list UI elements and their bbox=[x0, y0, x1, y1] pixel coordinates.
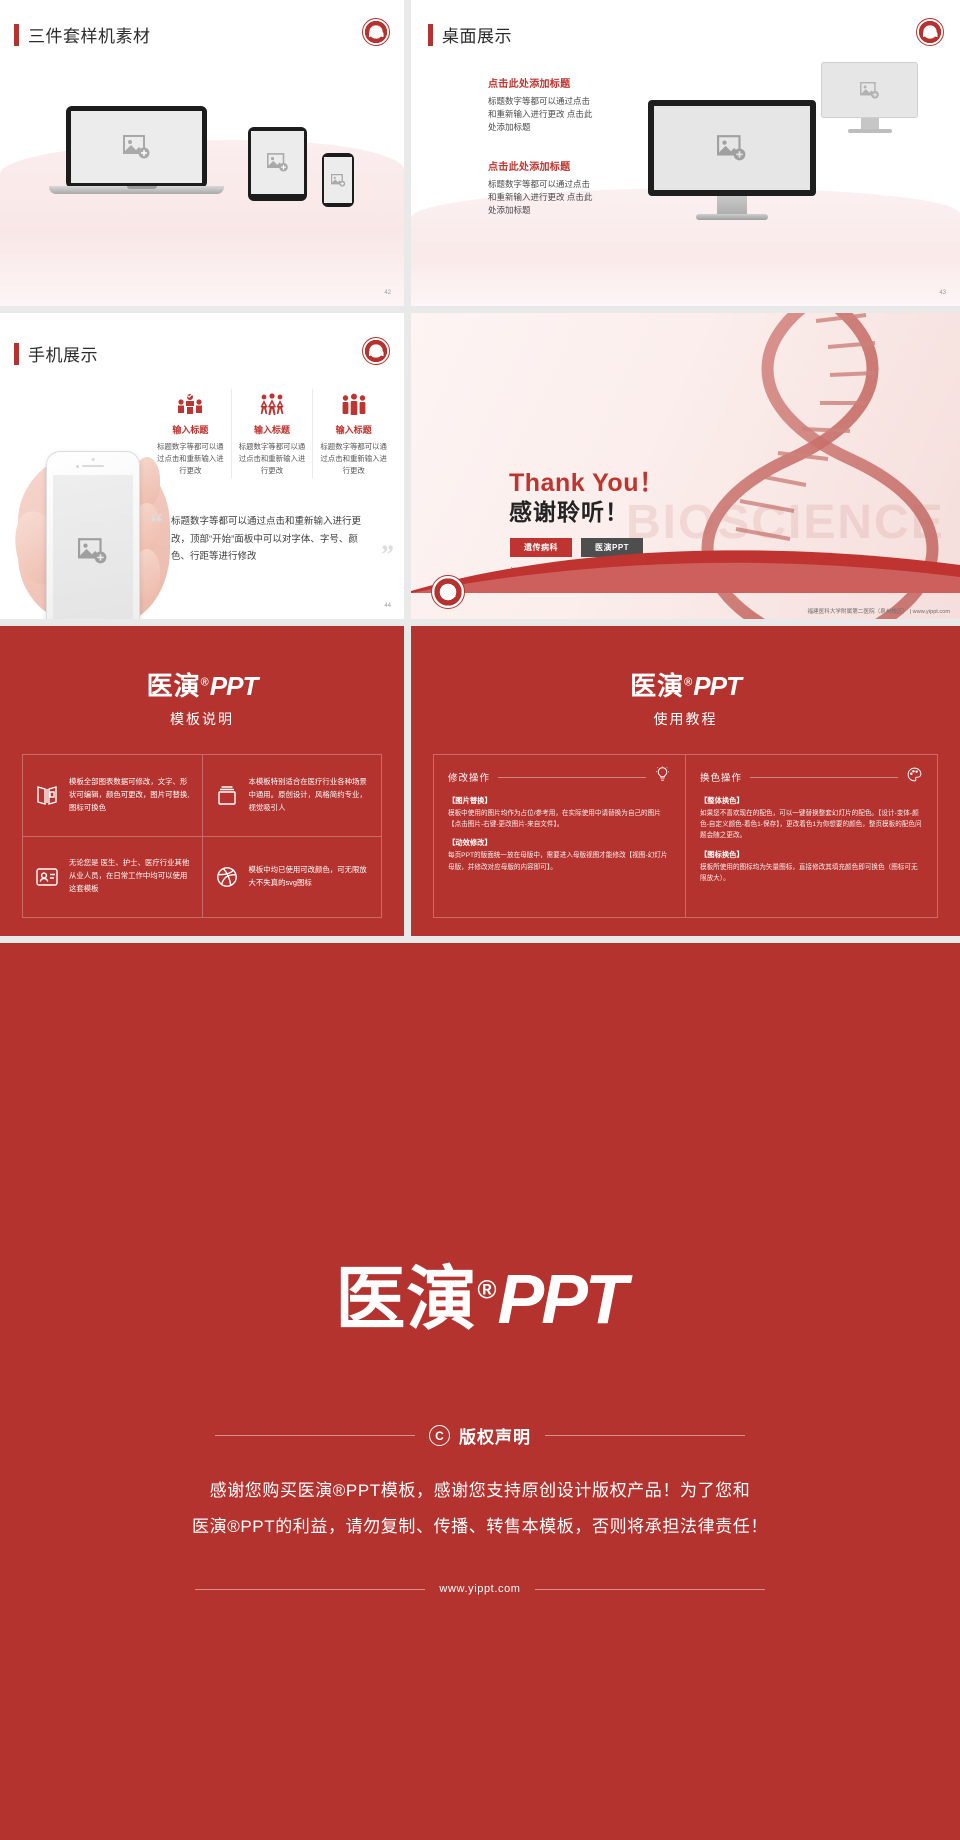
tutorial-block-title: 【图标换色】 bbox=[700, 850, 923, 860]
description-card[interactable]: 无论您是 医生、护士、医疗行业其他从业人员，在日常工作中均可以使用这套模板 bbox=[23, 836, 202, 918]
laptop-screen-content bbox=[71, 111, 202, 183]
feature-title: 输入标题 bbox=[318, 423, 389, 436]
copyright-body: 感谢您购买医演®PPT模板，感谢您支持原创设计版权产品！为了您和 医演®PPT的… bbox=[0, 1473, 960, 1544]
slide-copyright-statement[interactable]: 医演®PPT C 版权声明 感谢您购买医演®PPT模板，感谢您支持原创设计版权产… bbox=[0, 943, 960, 1840]
slide-desktop-display[interactable]: 桌面展示 点击此处添加标题 标题数字等都可以通过点击和重新输入进行更改 点击此处… bbox=[411, 0, 960, 306]
feature-item[interactable]: 输入标题 标题数字等都可以通过点击和重新输入进行更改 bbox=[312, 389, 394, 478]
laptop-screen bbox=[66, 106, 207, 188]
tutorial-heading: 修改操作 bbox=[448, 770, 490, 784]
brand-logo-reg: ® bbox=[477, 1275, 497, 1305]
slide1-title: 三件套样机素材 bbox=[28, 22, 151, 47]
description-card[interactable]: 本模板特别适合在医疗行业各种场景中通用。原创设计，风格简约专业，视觉吸引人 bbox=[203, 755, 382, 836]
tutorial-block-body: 每页PPT的版面统一放在母版中，需要进入母版视图才能修改【视图-幻灯片母版，并修… bbox=[448, 850, 671, 872]
slide2-heading-1: 点击此处添加标题 bbox=[488, 75, 593, 90]
tutorial-block: 【图标换色】 模板所使用的图标均为矢量图标，直接修改其填充颜色即可换色（图标可无… bbox=[700, 850, 923, 884]
heading-divider bbox=[750, 777, 898, 778]
dribbble-icon bbox=[214, 865, 240, 889]
phone-screen-content bbox=[324, 157, 352, 203]
feature-title: 输入标题 bbox=[155, 423, 226, 436]
description-card-text: 模板中均已使用可改颜色，可无限放大不失真的svg图标 bbox=[249, 864, 371, 890]
feature-title: 输入标题 bbox=[237, 423, 308, 436]
school-seal-icon bbox=[362, 18, 390, 46]
slide6-subtitle: 使用教程 bbox=[411, 709, 960, 729]
tutorial-heading-row: 换色操作 bbox=[700, 766, 923, 788]
brand-logo-cn: 医演 bbox=[335, 1260, 477, 1338]
title-tick-icon bbox=[14, 343, 19, 365]
slide4-footer: 福建医科大学附属第二医院（泉州校区） | www.yippt.com bbox=[807, 607, 950, 615]
tutorial-heading-row: 修改操作 bbox=[448, 766, 671, 788]
tutorial-heading: 换色操作 bbox=[700, 770, 742, 784]
add-image-placeholder-icon bbox=[717, 135, 747, 161]
copyright-body-line-2: 医演®PPT的利益，请勿复制、传播、转售本模板，否则将承担法律责任！ bbox=[0, 1509, 960, 1545]
description-card[interactable]: 模板中均已使用可改颜色，可无限放大不失真的svg图标 bbox=[203, 836, 382, 918]
monitor-foot bbox=[696, 214, 768, 220]
tutorial-block-title: 【图片替换】 bbox=[448, 796, 671, 806]
brand-logo-cn: 医演 bbox=[147, 671, 201, 701]
add-image-placeholder-icon bbox=[860, 82, 880, 99]
three-people-icon bbox=[318, 389, 389, 417]
description-card-text: 模板全部图表数据可修改，文字、形状可编辑，颜色可更改，图片可替换,图标可换色 bbox=[69, 776, 191, 815]
slide2-text-block-2: 点击此处添加标题 标题数字等都可以通过点击和重新输入进行更改 点击此处添加标题 bbox=[488, 158, 593, 218]
school-seal-icon bbox=[362, 337, 390, 365]
title-tick-icon bbox=[428, 24, 433, 46]
slide5-subtitle: 模板说明 bbox=[0, 709, 404, 729]
book-open-icon bbox=[34, 783, 60, 807]
desktop-monitor-small bbox=[821, 62, 918, 133]
brand-logo-ppt: PPT bbox=[210, 671, 258, 701]
brand-logo-cn: 医演 bbox=[630, 671, 684, 701]
slide3-title-row: 手机展示 bbox=[14, 341, 98, 366]
slide2-heading-2: 点击此处添加标题 bbox=[488, 158, 593, 173]
description-card-text: 本模板特别适合在医疗行业各种场景中通用。原创设计，风格简约专业，视觉吸引人 bbox=[249, 776, 371, 815]
copyright-body-line-1: 感谢您购买医演®PPT模板，感谢您支持原创设计版权产品！为了您和 bbox=[0, 1473, 960, 1509]
quote-close-icon: ” bbox=[381, 545, 394, 566]
add-image-placeholder-icon bbox=[331, 174, 346, 187]
tutorial-block: 【图片替换】 模板中使用的图片均作为占位/参考用，在实际使用中请替换为自己的图片… bbox=[448, 796, 671, 830]
monitor-screen-content bbox=[654, 106, 810, 190]
slide-three-device-mockup[interactable]: 三件套样机素材 bbox=[0, 0, 404, 306]
monitor-neck bbox=[717, 196, 747, 214]
slide3-title: 手机展示 bbox=[28, 341, 98, 366]
laptop-notch bbox=[127, 186, 157, 189]
feature-body: 标题数字等都可以通过点击和重新输入进行更改 bbox=[318, 441, 389, 478]
brand-logo-reg: ® bbox=[684, 676, 693, 688]
slide2-title: 桌面展示 bbox=[442, 22, 512, 47]
lightbulb-icon bbox=[654, 766, 671, 788]
slide-usage-tutorial[interactable]: 医演®PPT 使用教程 修改操作 【图片替换】 bbox=[411, 626, 960, 936]
add-image-placeholder-icon bbox=[267, 153, 289, 172]
feature-item[interactable]: 输入标题 标题数字等都可以通过点击和重新输入进行更改 bbox=[150, 389, 231, 478]
slide2-page-number: 43 bbox=[939, 290, 946, 296]
quote-open-icon: “ bbox=[150, 513, 163, 566]
divider-line-right bbox=[535, 1589, 765, 1590]
monitor-small-screen bbox=[821, 62, 918, 118]
phone-camera-icon bbox=[76, 465, 79, 468]
school-seal-icon bbox=[431, 575, 465, 609]
copyright-footer-row: www.yippt.com bbox=[0, 1583, 960, 1595]
brand-logo-ppt: PPT bbox=[498, 1260, 625, 1338]
brand-logo-ppt: PPT bbox=[693, 671, 741, 701]
slide2-body-1: 标题数字等都可以通过点击和重新输入进行更改 点击此处添加标题 bbox=[488, 95, 593, 135]
team-check-icon bbox=[155, 389, 226, 417]
hand-illustration bbox=[10, 391, 170, 619]
slide3-page-number: 44 bbox=[384, 603, 391, 609]
description-card-grid: 模板全部图表数据可修改，文字、形状可编辑，颜色可更改，图片可替换,图标可换色 无… bbox=[22, 754, 382, 918]
feature-columns: 输入标题 标题数字等都可以通过点击和重新输入进行更改 输入标题 标题数字等都可以… bbox=[150, 389, 394, 478]
divider-line-left bbox=[215, 1435, 415, 1436]
add-image-placeholder-icon bbox=[123, 135, 151, 159]
thank-you-title-cn: 感谢聆听！ bbox=[509, 493, 629, 527]
tutorial-block-title: 【动效修改】 bbox=[448, 838, 671, 848]
slide-deck-grid: 三件套样机素材 bbox=[0, 0, 960, 1840]
copyright-icon: C bbox=[429, 1425, 450, 1446]
user-id-icon bbox=[34, 865, 60, 889]
phone-sensor-dot bbox=[92, 458, 95, 461]
tablet-mockup bbox=[248, 127, 307, 201]
description-card[interactable]: 模板全部图表数据可修改，文字、形状可编辑，颜色可更改，图片可替换,图标可换色 bbox=[23, 755, 202, 836]
brand-logo: 医演®PPT bbox=[411, 666, 960, 703]
tutorial-block-body: 如果您不喜欢现在的配色，可以一键替换整套幻灯片的配色。【设计-变体-颜色-自定义… bbox=[700, 808, 923, 842]
description-column-left: 模板全部图表数据可修改，文字、形状可编辑，颜色可更改，图片可替换,图标可换色 无… bbox=[23, 755, 202, 917]
slide-phone-display[interactable]: 手机展示 bbox=[0, 313, 404, 619]
feature-body: 标题数字等都可以通过点击和重新输入进行更改 bbox=[155, 441, 226, 478]
palette-icon bbox=[906, 766, 923, 788]
people-group-icon bbox=[237, 389, 308, 417]
slide2-text-block-1: 点击此处添加标题 标题数字等都可以通过点击和重新输入进行更改 点击此处添加标题 bbox=[488, 75, 593, 135]
red-swoosh-decoration bbox=[411, 533, 960, 593]
add-image-placeholder-icon bbox=[78, 538, 108, 564]
description-column-right: 本模板特别适合在医疗行业各种场景中通用。原创设计，风格简约专业，视觉吸引人 模板… bbox=[202, 755, 382, 917]
slide-template-description[interactable]: 医演®PPT 模板说明 模板全部图表数据可修改，文字、形状可编辑，颜色可更改，图… bbox=[0, 626, 404, 936]
copyright-badge: C 版权声明 bbox=[429, 1423, 531, 1448]
feature-body: 标题数字等都可以通过点击和重新输入进行更改 bbox=[237, 441, 308, 478]
divider-line-right bbox=[545, 1435, 745, 1436]
tutorial-block-title: 【整体换色】 bbox=[700, 796, 923, 806]
slide1-title-row: 三件套样机素材 bbox=[14, 22, 151, 47]
feature-item[interactable]: 输入标题 标题数字等都可以通过点击和重新输入进行更改 bbox=[231, 389, 313, 478]
brand-logo-large: 医演®PPT bbox=[0, 1243, 960, 1344]
monitor-small-foot bbox=[848, 129, 892, 133]
phone-screen-content bbox=[53, 475, 133, 619]
brand-logo-reg: ® bbox=[201, 676, 210, 688]
slide2-title-row: 桌面展示 bbox=[428, 22, 512, 47]
monitor-screen bbox=[648, 100, 816, 196]
heading-divider bbox=[498, 777, 646, 778]
laptop-mockup bbox=[66, 106, 207, 188]
slide2-body-2: 标题数字等都可以通过点击和重新输入进行更改 点击此处添加标题 bbox=[488, 178, 593, 218]
phone-speaker bbox=[82, 465, 104, 467]
tutorial-column-color: 换色操作 【整体换色】 如果您不喜欢现在的配色，可以一键替换整套幻灯片的配色。【… bbox=[685, 755, 937, 917]
school-seal-icon bbox=[916, 18, 944, 46]
quote-text: 标题数字等都可以通过点击和重新输入进行更改，顶部“开始”面板中可以对字体、字号、… bbox=[171, 513, 373, 566]
description-card-text: 无论您是 医生、护士、医疗行业其他从业人员，在日常工作中均可以使用这套模板 bbox=[69, 857, 191, 896]
tablet-screen-content bbox=[251, 131, 304, 194]
tutorial-block: 【整体换色】 如果您不喜欢现在的配色，可以一键替换整套幻灯片的配色。【设计-变体… bbox=[700, 796, 923, 842]
iphone-mockup bbox=[46, 451, 140, 619]
slide1-page-number: 42 bbox=[384, 290, 391, 296]
tutorial-columns: 修改操作 【图片替换】 模板中使用的图片均作为占位/参考用，在实际使用中请替换为… bbox=[433, 754, 938, 918]
monitor-small-neck bbox=[861, 118, 879, 129]
copyright-heading-row: C 版权声明 bbox=[0, 1423, 960, 1448]
slide3-quote: “ 标题数字等都可以通过点击和重新输入进行更改，顶部“开始”面板中可以对字体、字… bbox=[150, 513, 394, 566]
title-tick-icon bbox=[14, 24, 19, 46]
desktop-monitor-large bbox=[648, 100, 816, 220]
tutorial-block-body: 模板所使用的图标均为矢量图标，直接修改其填充颜色即可换色（图标可无限放大）。 bbox=[700, 862, 923, 884]
tutorial-block-body: 模板中使用的图片均作为占位/参考用，在实际使用中请替换为自己的图片【点击图片-右… bbox=[448, 808, 671, 830]
tutorial-block: 【动效修改】 每页PPT的版面统一放在母版中，需要进入母版视图才能修改【视图-幻… bbox=[448, 838, 671, 872]
brand-logo: 医演®PPT bbox=[0, 666, 404, 703]
divider-line-left bbox=[195, 1589, 425, 1590]
copyright-title: 版权声明 bbox=[459, 1423, 531, 1448]
website-url[interactable]: www.yippt.com bbox=[439, 1583, 520, 1595]
phone-mockup bbox=[322, 153, 354, 207]
slide-thank-you[interactable]: BIOSCIENCE Thank You！ 感谢聆听！ 遗传病科 医演PPT 汇… bbox=[411, 313, 960, 619]
tutorial-column-edit: 修改操作 【图片替换】 模板中使用的图片均作为占位/参考用，在实际使用中请替换为… bbox=[434, 755, 685, 917]
box-icon bbox=[214, 783, 240, 807]
